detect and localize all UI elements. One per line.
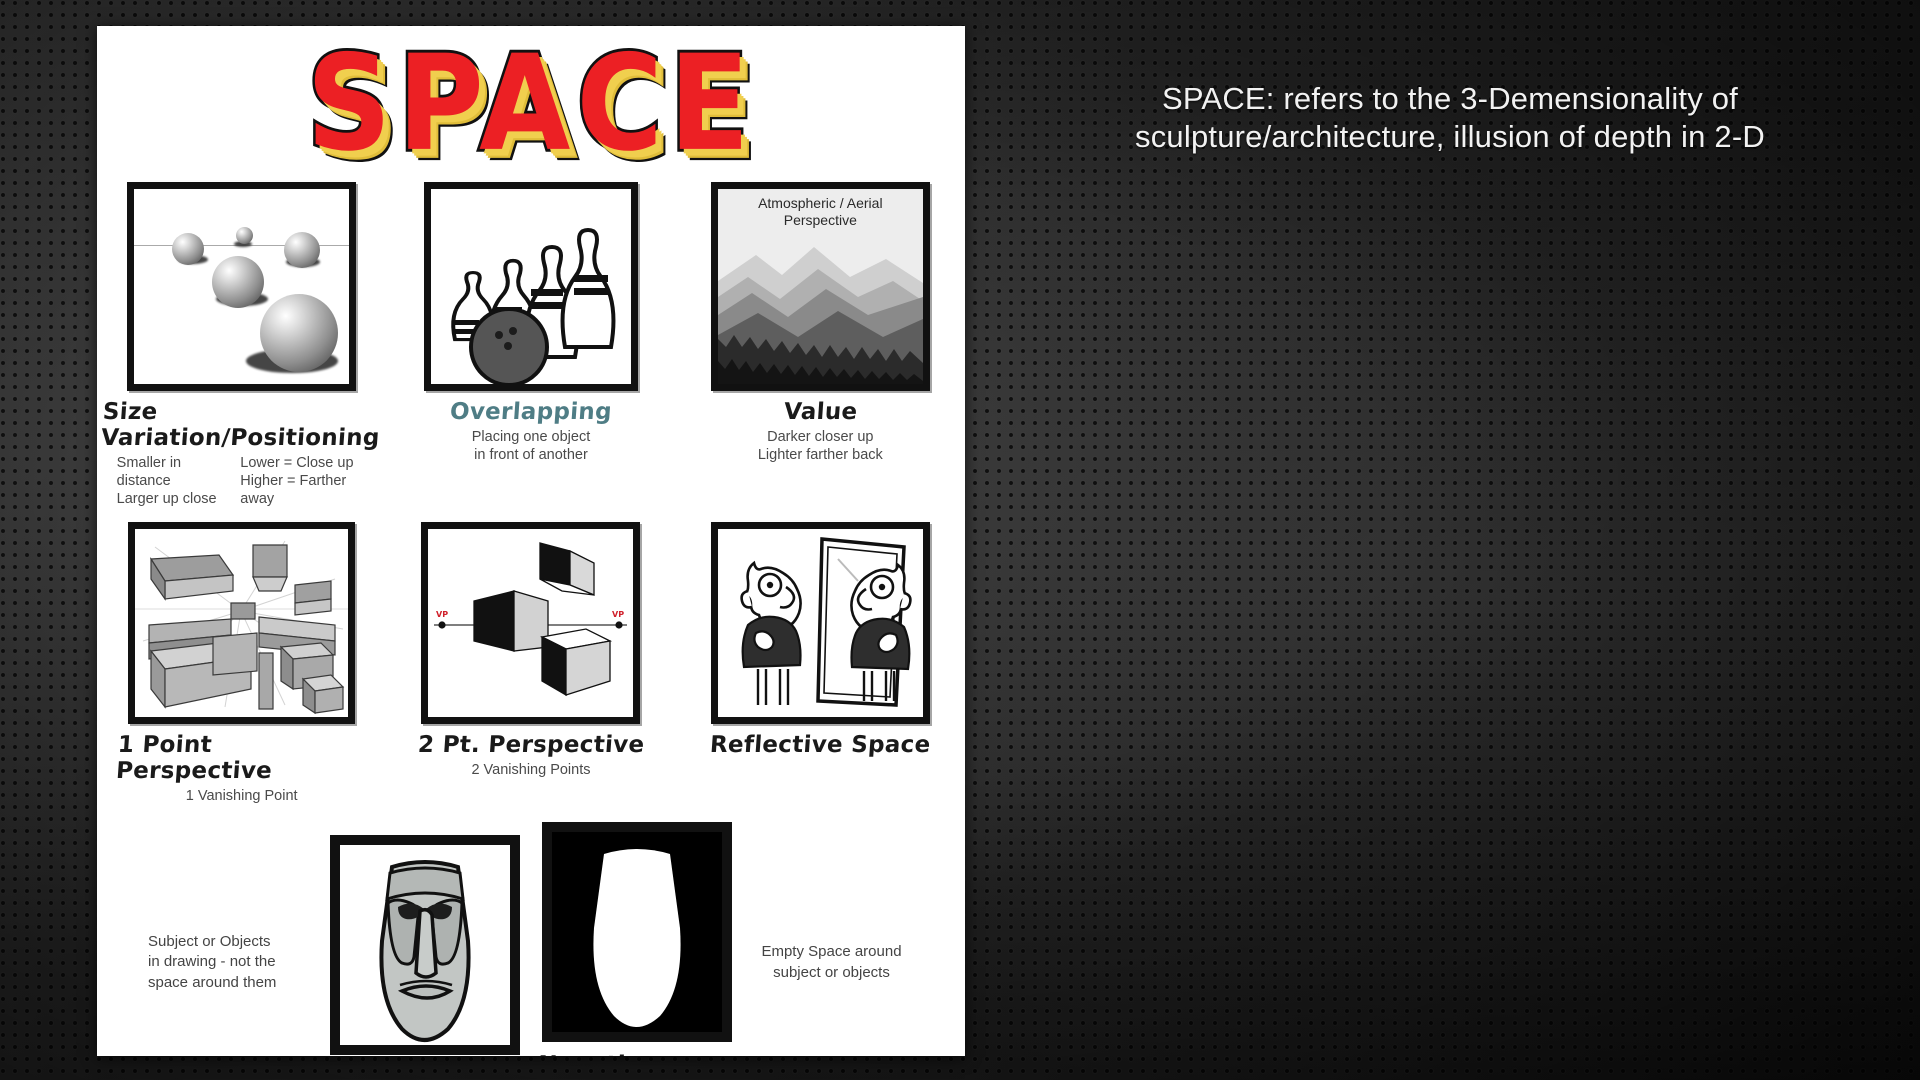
overlapping-illustration <box>424 182 638 391</box>
size-variation-illustration <box>127 182 356 391</box>
one-point-perspective-subcaption: 1 Vanishing Point <box>186 787 298 805</box>
overlapping-caption: Overlapping <box>449 399 613 425</box>
sphere-small-2 <box>284 232 320 268</box>
vp-label-left: VP <box>436 610 448 619</box>
positive-space-note-3: space around them <box>148 973 313 993</box>
size-variation-caption: Size Variation/Positioning <box>101 399 383 451</box>
positive-space-illustration <box>330 835 520 1055</box>
negative-space-note: Empty Space around subject or objects <box>749 942 914 983</box>
presentation-slide: SPACE: refers to the 3-Demensionality of… <box>0 0 1920 1080</box>
reflective-space-illustration <box>711 522 930 724</box>
reflective-space-caption: Reflective Space <box>709 732 931 758</box>
slide-title: SPACE: refers to the 3-Demensionality of… <box>1010 80 1890 156</box>
overlapping-sub-1: Placing one object <box>472 428 591 446</box>
poster-row-1: Size Variation/Positioning Smaller in di… <box>97 182 965 508</box>
value-sub-2: Lighter farther back <box>758 446 883 464</box>
poster-heading-text: SPACE <box>97 26 965 180</box>
value-illustration: Atmospheric / Aerial Perspective <box>711 182 930 391</box>
negative-space-note-1: Empty Space around <box>749 942 914 962</box>
size-variation-sub-4: Higher = Farther away <box>240 472 366 508</box>
slide-title-line-2: sculpture/architecture, illusion of dept… <box>1010 118 1890 156</box>
overlapping-subcaption: Placing one object in front of another <box>472 428 591 464</box>
sphere-large <box>260 294 338 372</box>
value-sub-1: Darker closer up <box>758 428 883 446</box>
size-variation-sub-2: Larger up close <box>117 490 225 508</box>
panel-value: Atmospheric / Aerial Perspective <box>695 182 945 464</box>
two-point-boxes-svg: VP VP <box>428 529 633 717</box>
man-and-mirror-svg <box>718 529 923 717</box>
one-point-perspective-illustration <box>128 522 355 724</box>
panel-reflective-space: Reflective Space <box>695 522 945 758</box>
atmospheric-perspective-label: Atmospheric / Aerial Perspective <box>718 195 923 229</box>
overlapping-sub-2: in front of another <box>472 446 591 464</box>
panel-negative-space: Negative Space <box>537 822 737 1057</box>
space-infographic-poster: SPACE Size Variation/P <box>97 26 965 1056</box>
poster-row-2: 1 Point Perspective 1 Vanishing Point VP… <box>97 522 965 805</box>
positive-space-note-2: in drawing - not the <box>148 952 313 972</box>
size-variation-sub-1: Smaller in distance <box>117 454 225 490</box>
slide-title-line-1: SPACE: refers to the 3-Demensionality of <box>1010 80 1890 118</box>
one-point-perspective-caption: 1 Point Perspective <box>115 732 369 784</box>
poster-heading: SPACE <box>97 32 965 182</box>
negative-space-caption: Negative Space <box>535 1052 739 1057</box>
moai-silhouette-svg <box>552 832 722 1032</box>
atmospheric-label-line-1: Atmospheric / Aerial <box>718 195 923 212</box>
sphere-small <box>172 233 204 265</box>
panel-positive-space: Positive Space <box>325 835 525 1057</box>
value-subcaption: Darker closer up Lighter farther back <box>758 428 883 464</box>
poster-row-3: Subject or Objects in drawing - not the … <box>97 822 965 1057</box>
positive-space-note: Subject or Objects in drawing - not the … <box>148 932 313 993</box>
negative-space-illustration <box>542 822 732 1042</box>
size-variation-sub-3: Lower = Close up <box>240 454 366 472</box>
panel-one-point-perspective: 1 Point Perspective 1 Vanishing Point <box>117 522 367 805</box>
one-point-boxes-svg <box>135 529 348 717</box>
panel-overlapping: Overlapping Placing one object in front … <box>406 182 656 464</box>
two-point-perspective-caption: 2 Pt. Perspective <box>417 732 645 758</box>
sphere-medium <box>212 256 264 308</box>
two-point-perspective-illustration: VP VP <box>421 522 640 724</box>
vp-label-right: VP <box>612 610 624 619</box>
negative-space-note-2: subject or objects <box>749 963 914 983</box>
positive-space-note-1: Subject or Objects <box>148 932 313 952</box>
panel-size-variation: Size Variation/Positioning Smaller in di… <box>117 182 367 508</box>
two-point-perspective-subcaption: 2 Vanishing Points <box>471 761 590 779</box>
size-variation-subcaption: Smaller in distance Larger up close Lowe… <box>117 454 367 508</box>
value-caption: Value <box>783 399 858 425</box>
bowling-pins-svg <box>431 189 631 384</box>
panel-two-point-perspective: VP VP <box>406 522 656 779</box>
moai-head-svg <box>340 845 510 1045</box>
atmospheric-label-line-2: Perspective <box>718 212 923 229</box>
